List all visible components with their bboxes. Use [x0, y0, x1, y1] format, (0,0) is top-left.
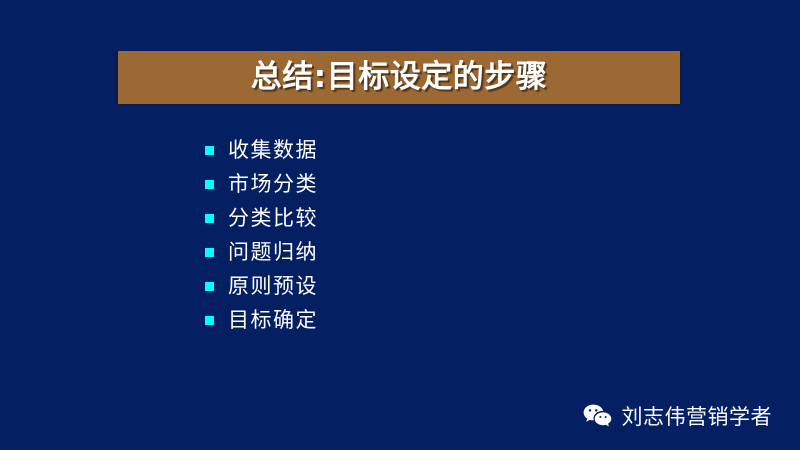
list-item-label: 市场分类 [228, 174, 318, 195]
list-item: 市场分类 [205, 167, 318, 201]
square-bullet-icon [205, 248, 214, 257]
page-title: 总结:目标设定的步骤 [251, 62, 547, 93]
list-item-label: 问题归纳 [228, 242, 318, 263]
list-item: 原则预设 [205, 269, 318, 303]
list-item: 问题归纳 [205, 235, 318, 269]
list-item-label: 原则预设 [228, 276, 318, 297]
square-bullet-icon [205, 146, 214, 155]
watermark-label: 刘志伟营销学者 [622, 407, 773, 428]
list-item-label: 分类比较 [228, 208, 318, 229]
square-bullet-icon [205, 180, 214, 189]
slide-canvas: 总结:目标设定的步骤 收集数据 市场分类 分类比较 问题归纳 原则预设 目标确定 [0, 0, 800, 450]
wechat-icon [583, 404, 613, 430]
bullet-list: 收集数据 市场分类 分类比较 问题归纳 原则预设 目标确定 [205, 133, 318, 337]
list-item: 分类比较 [205, 201, 318, 235]
list-item: 收集数据 [205, 133, 318, 167]
list-item-label: 目标确定 [228, 310, 318, 331]
square-bullet-icon [205, 214, 214, 223]
title-banner: 总结:目标设定的步骤 [118, 51, 680, 104]
square-bullet-icon [205, 282, 214, 291]
square-bullet-icon [205, 316, 214, 325]
list-item: 目标确定 [205, 303, 318, 337]
list-item-label: 收集数据 [228, 140, 318, 161]
watermark: 刘志伟营销学者 [583, 404, 773, 430]
